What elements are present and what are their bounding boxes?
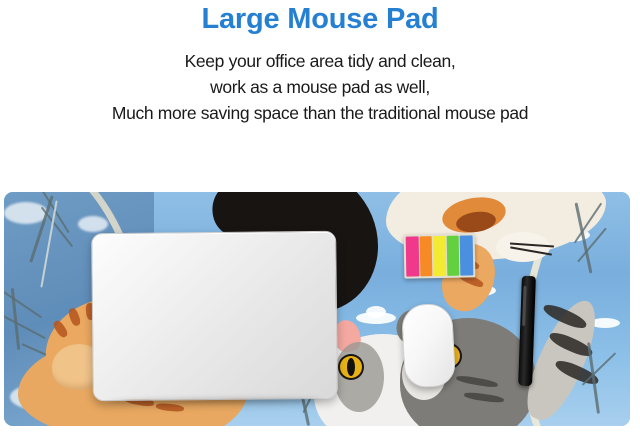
- sticky-note-pink: [406, 236, 419, 276]
- page-title: Large Mouse Pad: [0, 2, 640, 36]
- sticky-notes[interactable]: [404, 233, 476, 278]
- promo-header: Large Mouse Pad Keep your office area ti…: [0, 0, 640, 126]
- sticky-note-orange: [419, 236, 432, 276]
- pupil: [347, 358, 355, 376]
- sticky-note-yellow: [433, 236, 446, 276]
- orange-white-cat-muzzle: [496, 232, 550, 262]
- sticky-note-blue: [460, 235, 473, 275]
- subtitle-line-2: work as a mouse pad as well,: [0, 74, 640, 100]
- sticky-note-green: [446, 236, 459, 276]
- grey-white-cat-fur-shade: [334, 342, 384, 412]
- pen-clip: [522, 286, 526, 326]
- promo-subtitle: Keep your office area tidy and clean, wo…: [0, 36, 640, 126]
- product-photo: [4, 192, 630, 426]
- wireless-mouse[interactable]: [401, 303, 456, 389]
- subtitle-line-1: Keep your office area tidy and clean,: [0, 48, 640, 74]
- laptop[interactable]: [91, 231, 338, 402]
- cloud-icon: [366, 306, 386, 318]
- subtitle-line-3: Much more saving space than the traditio…: [0, 100, 640, 126]
- grey-white-cat-eye: [340, 356, 362, 378]
